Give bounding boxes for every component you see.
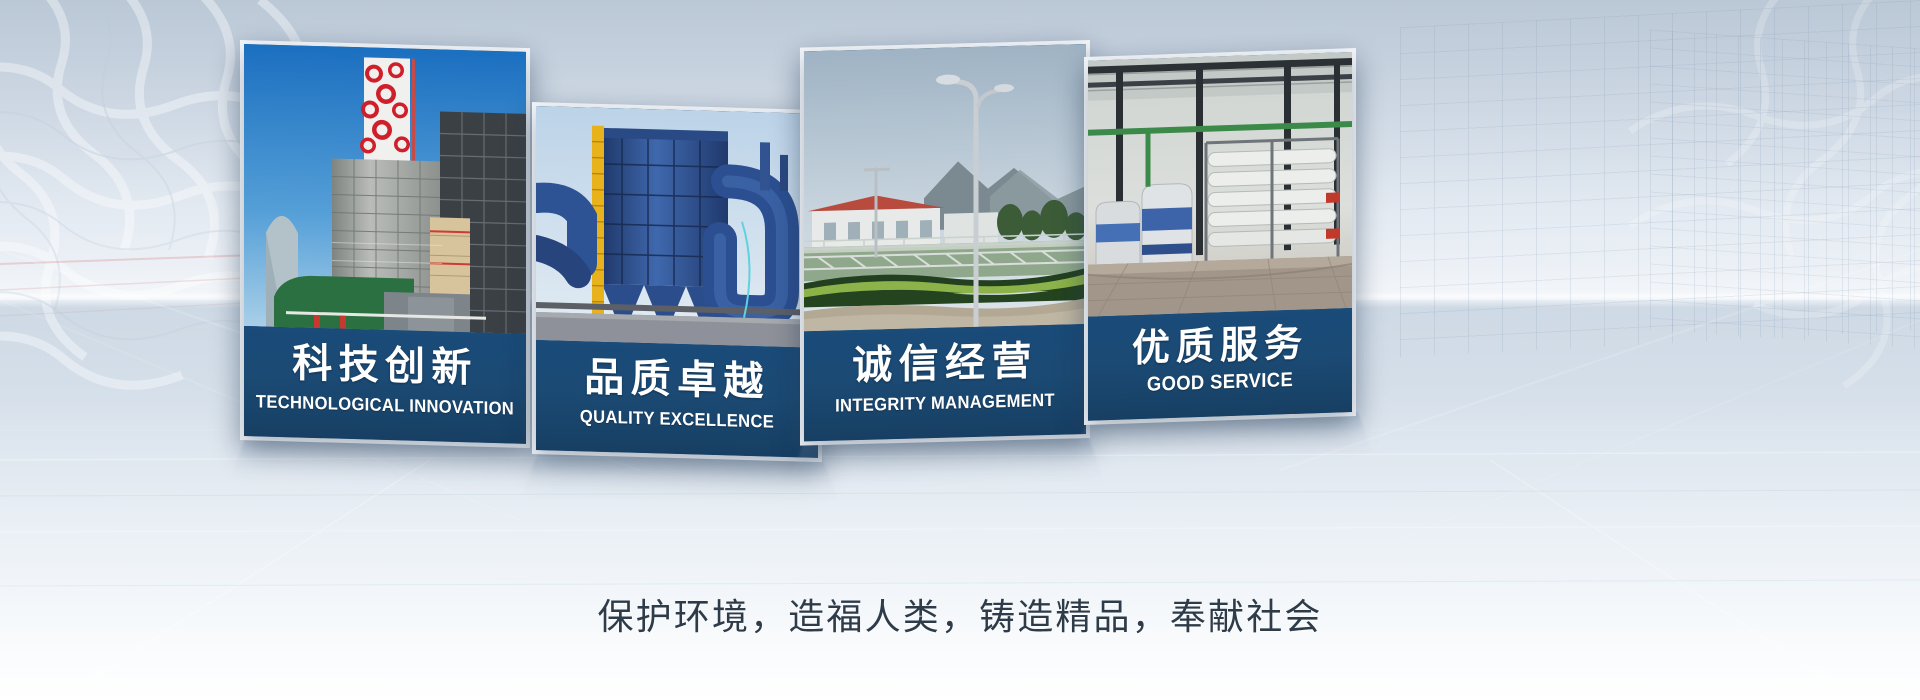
card-good-service[interactable]: 优质服务 GOOD SERVICE [1088, 52, 1352, 421]
card-title-en-3: INTEGRITY MANAGEMENT [815, 386, 1074, 419]
card-title-en-1: TECHNOLOGICAL INNOVATION [255, 388, 514, 421]
card-title-en-2: QUALITY EXCELLENCE [547, 402, 806, 435]
card-title-cn-1: 科技创新 [244, 338, 526, 394]
card-photo-integrity-management [804, 44, 1086, 331]
card-photo-technological-innovation [244, 44, 526, 334]
card-band-integrity-management: 诚信经营 INTEGRITY MANAGEMENT [804, 324, 1086, 441]
card-photo-quality-excellence [536, 106, 818, 348]
card-title-cn-2: 品质卓越 [536, 352, 818, 408]
banner-tagline: 保护环境，造福人类，铸造精品，奉献社会 [0, 588, 1920, 640]
card-quality-excellence[interactable]: 品质卓越 QUALITY EXCELLENCE [536, 106, 818, 458]
card-band-technological-innovation: 科技创新 TECHNOLOGICAL INNOVATION [244, 326, 526, 444]
card-technological-innovation[interactable]: 科技创新 TECHNOLOGICAL INNOVATION [244, 44, 526, 444]
card-integrity-management[interactable]: 诚信经营 INTEGRITY MANAGEMENT [804, 44, 1086, 441]
card-band-good-service: 优质服务 GOOD SERVICE [1088, 308, 1352, 421]
hero-banner: 科技创新 TECHNOLOGICAL INNOVATION [0, 0, 1920, 700]
card-band-quality-excellence: 品质卓越 QUALITY EXCELLENCE [536, 340, 818, 458]
card-title-cn-3: 诚信经营 [804, 336, 1086, 391]
card-photo-good-service [1088, 52, 1352, 317]
